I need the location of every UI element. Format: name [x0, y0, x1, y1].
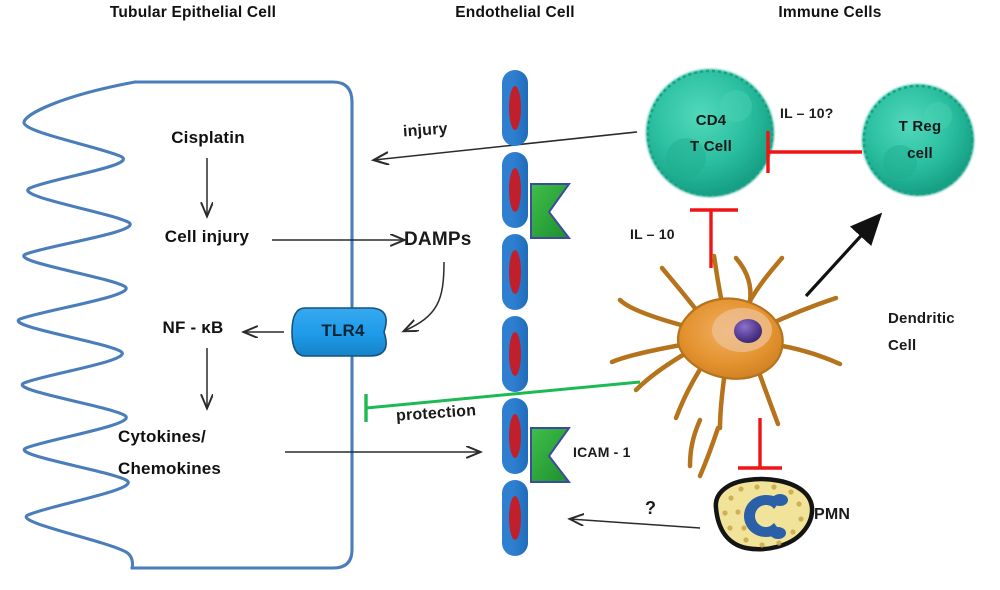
injury-label: injury	[402, 120, 448, 141]
arrow-damps-to-tlr4	[404, 262, 444, 331]
il10-question-label: IL – 10?	[780, 105, 833, 121]
nucleus	[509, 250, 521, 294]
dendritic-cell-label-line1: Dendritic	[888, 310, 955, 327]
endothelial-segment	[502, 234, 528, 310]
cd4-t-cell-label-line1: CD4	[671, 112, 751, 129]
t-reg-cell-label-line1: T Reg	[880, 118, 960, 135]
wavy-brush-border-icon	[18, 82, 135, 568]
damps-label: DAMPs	[404, 229, 472, 251]
t-reg-cell-label-line2: cell	[880, 145, 960, 162]
cd4-t-cell-label-line2: T Cell	[671, 138, 751, 155]
diagram-vector-layer	[0, 0, 1000, 590]
icam-top-chevron	[531, 184, 569, 238]
endothelial-segment	[502, 152, 528, 228]
endothelial-segment	[502, 70, 528, 146]
header-endothelial-cell: Endothelial Cell	[415, 4, 615, 22]
diagram-canvas: Tubular Epithelial Cell Endothelial Cell…	[0, 0, 1000, 590]
endothelial-segment	[502, 398, 528, 474]
node-cisplatin: Cisplatin	[144, 128, 272, 148]
nucleus	[509, 414, 521, 458]
endothelial-segment	[502, 480, 528, 556]
il10q-inhibition	[768, 131, 862, 173]
pmn-question-label: ?	[645, 498, 656, 519]
icam-1-label: ICAM - 1	[573, 444, 631, 460]
tlr4-label: TLR4	[308, 321, 378, 341]
pmn-cell-label: PMN	[814, 506, 850, 524]
pmn-cell-shape	[716, 479, 812, 549]
t-reg-cell-shape	[862, 84, 974, 196]
node-chemokines: Chemokines	[118, 459, 293, 479]
header-tubular-epithelial-cell: Tubular Epithelial Cell	[68, 4, 318, 22]
node-cell-injury: Cell injury	[137, 227, 277, 247]
header-immune-cells: Immune Cells	[740, 4, 920, 22]
nucleus	[509, 168, 521, 212]
dendritic-cell-label-line2: Cell	[888, 337, 916, 354]
endothelial-segment	[502, 316, 528, 392]
dc-to-pmn-inhibition	[738, 418, 782, 468]
cd4-t-cell-shape	[646, 69, 774, 197]
node-cytokines: Cytokines/	[118, 427, 293, 447]
nucleus	[509, 86, 521, 130]
dendritic-cell-shape	[612, 256, 840, 476]
nucleus	[509, 496, 521, 540]
dc-to-treg-arrow	[806, 215, 880, 296]
pmn-to-endothelium-arrow	[570, 519, 700, 528]
icam-bottom-chevron	[531, 428, 569, 482]
il10-label: IL – 10	[630, 226, 675, 242]
node-nf-kb: NF - κB	[140, 318, 246, 338]
endothelial-cell-chain	[502, 70, 528, 556]
nucleus	[734, 319, 762, 343]
nucleus	[509, 332, 521, 376]
